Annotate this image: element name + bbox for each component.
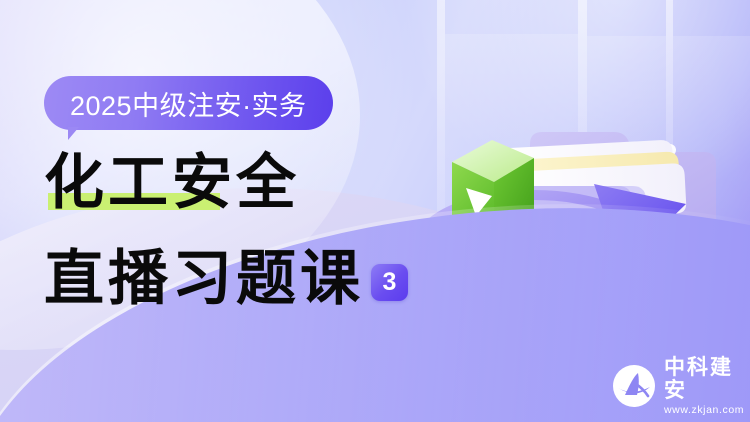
category-badge-label: 2025中级注安·实务 xyxy=(44,76,333,130)
headline-line2-row: 直播习题课 3 xyxy=(44,248,408,310)
speech-bubble-tail-icon xyxy=(68,127,83,140)
episode-number-badge: 3 xyxy=(371,264,408,301)
brand-logo-text: 中科建安 www.zkjan.com xyxy=(664,356,750,416)
page-title: 化工安全 xyxy=(44,152,300,214)
brand-logo: 中科建安 www.zkjan.com xyxy=(612,356,750,416)
course-banner: 2025中级注安·实务 化工安全 直播习题课 3 中科建安 www.zkjan.… xyxy=(0,0,750,422)
brand-name: 中科建安 xyxy=(664,356,750,402)
headline-line1-wrap: 化工安全 xyxy=(44,152,300,214)
category-badge: 2025中级注安·实务 xyxy=(44,76,333,130)
brand-website: www.zkjan.com xyxy=(664,404,750,416)
headline-line1: 化工安全 xyxy=(44,150,300,216)
zkjan-circle-mark-icon xyxy=(612,364,656,408)
headline-line2: 直播习题课 xyxy=(44,248,364,310)
